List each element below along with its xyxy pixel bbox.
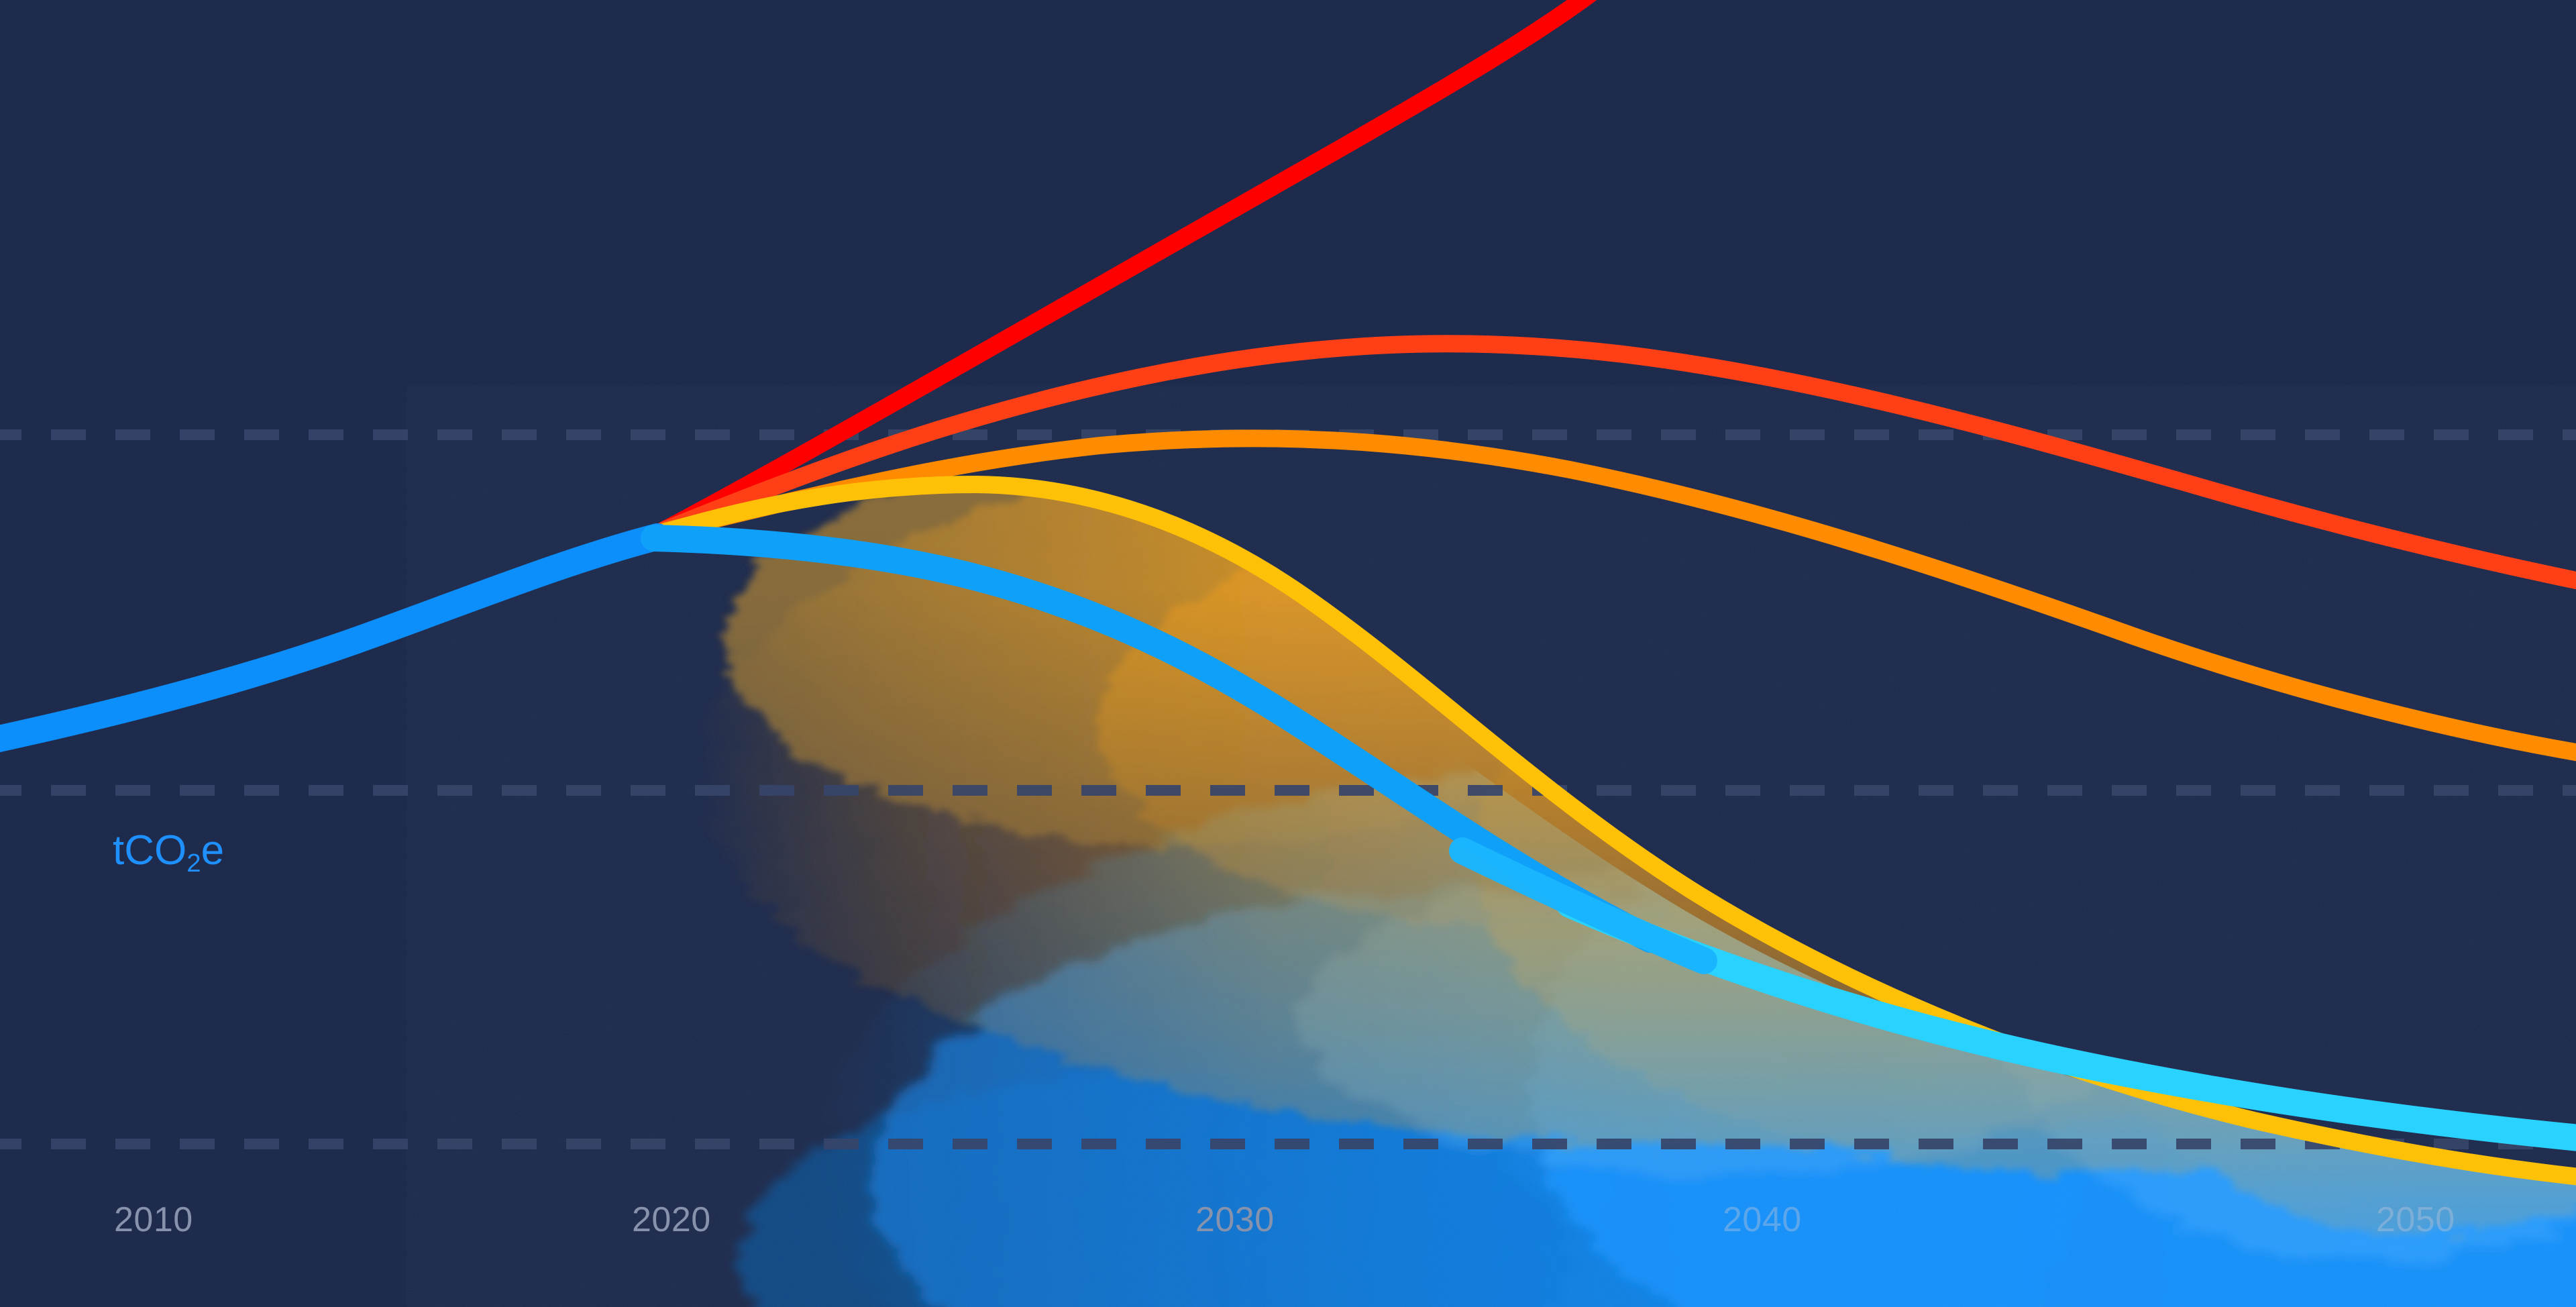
x-axis-tick-2010: 2010 bbox=[114, 1200, 193, 1240]
x-axis-tick-2020: 2020 bbox=[632, 1200, 711, 1240]
x-axis-tick-2050: 2050 bbox=[2376, 1200, 2455, 1240]
paint-grain-overlay bbox=[604, 470, 2576, 1307]
x-axis-tick-2040: 2040 bbox=[1723, 1200, 1802, 1240]
chart-canvas: 2010 2020 2030 2040 2050 tCO2e bbox=[0, 0, 2576, 1307]
y-axis-unit-label: tCO2e bbox=[113, 827, 224, 874]
y-axis-unit-suffix: e bbox=[201, 827, 224, 874]
y-axis-unit-prefix: tCO bbox=[113, 827, 186, 874]
emissions-scenario-chart bbox=[0, 0, 2576, 1307]
x-axis-tick-2030: 2030 bbox=[1195, 1200, 1275, 1240]
y-axis-unit-subscript: 2 bbox=[186, 849, 201, 878]
